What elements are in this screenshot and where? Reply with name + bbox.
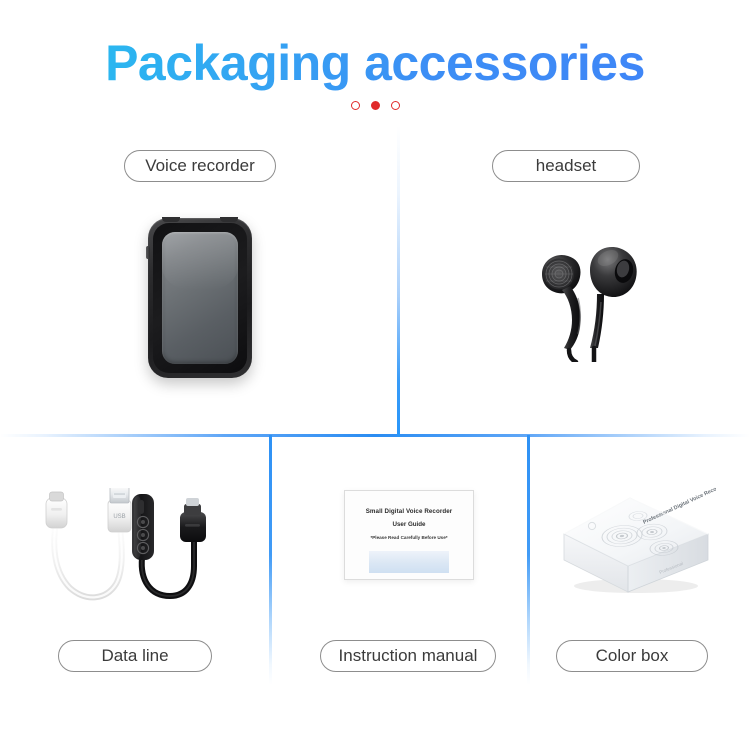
recorder-bezel [153,223,247,373]
label-instruction-manual: Instruction manual [320,640,496,672]
manual-subtitle: User Guide [392,521,425,528]
black-cable-with-control [132,494,206,596]
recorder-notch-right [220,217,238,222]
label-data-line: Data line [58,640,212,672]
manual-note: *Please Read Carefully Before Use* [370,535,447,540]
recorder-notch-left [162,217,180,222]
micro-usb-plug-black [180,498,206,542]
dot-hollow-left [351,101,360,110]
voice-recorder-image [148,218,252,378]
dot-solid-center [371,101,380,110]
data-line-illustration: USB [34,488,214,606]
recorder-side-button [146,246,150,259]
earbud-right [590,247,637,348]
headset-illustration [512,222,652,362]
product-accessories-page: Packaging accessories Voice recorder hea… [0,0,750,750]
label-headset: headset [492,150,640,182]
divider-vertical-top [397,125,400,437]
earbud-left [540,255,581,350]
divider-vertical-bottom-left [269,435,272,685]
title-dots [0,101,750,110]
usb-a-plug-white: USB [108,488,131,532]
cable-control-module [132,494,154,560]
recorder-screen [162,232,238,364]
headset-image [512,222,652,362]
color-box-illustration: Professional Digital Voice Recorder Prof… [556,482,716,600]
data-line-image: USB [34,488,214,606]
dot-hollow-right [391,101,400,110]
white-usb-cable: USB [46,488,131,597]
micro-usb-plug-white [46,492,67,528]
page-title-wrapper: Packaging accessories [0,36,750,91]
instruction-manual-image: Small Digital Voice Recorder User Guide … [344,490,474,580]
divider-vertical-bottom-right [527,435,530,685]
label-color-box: Color box [556,640,708,672]
svg-text:USB: USB [113,514,125,520]
divider-horizontal [0,434,750,437]
cable-left [569,350,576,362]
page-title: Packaging accessories [105,36,645,91]
manual-title: Small Digital Voice Recorder [366,508,453,515]
label-voice-recorder: Voice recorder [124,150,276,182]
color-box-image: Professional Digital Voice Recorder Prof… [556,482,716,600]
manual-cover-graphic [369,551,449,573]
recorder-body [148,218,252,378]
box-lid-text: Professional Digital Voice Recorder [642,482,716,526]
